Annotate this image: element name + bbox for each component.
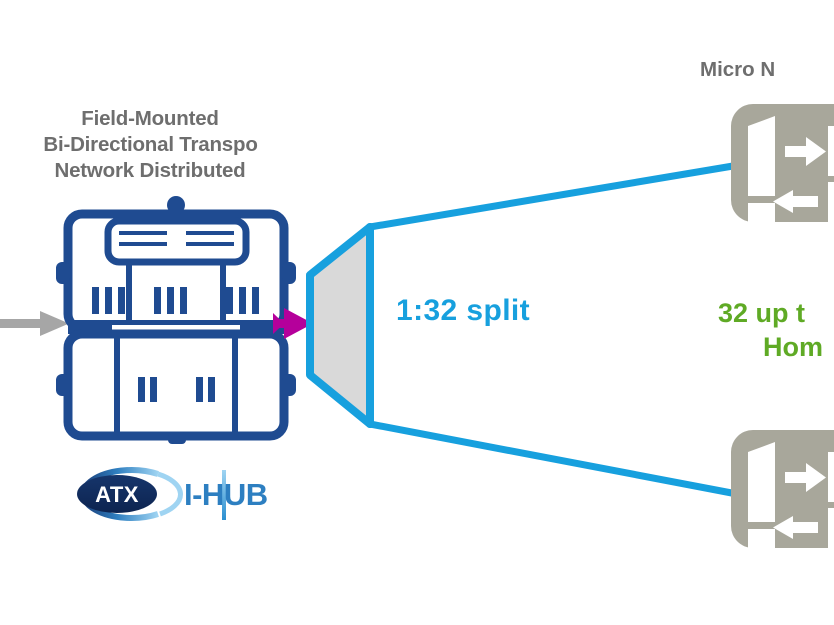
fiber-link-upper (370, 166, 733, 227)
input-arrow-icon (0, 311, 69, 336)
homes-line-2: Hom (718, 330, 834, 364)
split-ratio-label: 1:32 split (396, 294, 530, 328)
caption-line-3: Network Distributed (0, 158, 300, 184)
optical-splitter (310, 166, 737, 494)
caption-line-2: Bi-Directional Transpo (8, 132, 293, 158)
atx-ihub-logo: I-HUB (62, 466, 277, 526)
ihub-product-name: I-HUB (184, 477, 268, 513)
homes-line-1: 32 up t (718, 296, 834, 330)
micro-node-label: Micro N (700, 58, 834, 82)
caption-line-1: Field-Mounted (0, 106, 300, 132)
ihub-device-icon (56, 196, 296, 444)
homes-passed-label: 32 up t Hom (718, 296, 834, 364)
diagram-canvas: ATX Field-Mounted Bi-Directional Transpo… (0, 0, 834, 625)
fiber-link-lower (370, 424, 737, 494)
micro-node-lower (731, 430, 834, 570)
ihub-caption: Field-Mounted Bi-Directional Transpo Net… (0, 106, 300, 184)
micro-node-upper (731, 104, 834, 244)
